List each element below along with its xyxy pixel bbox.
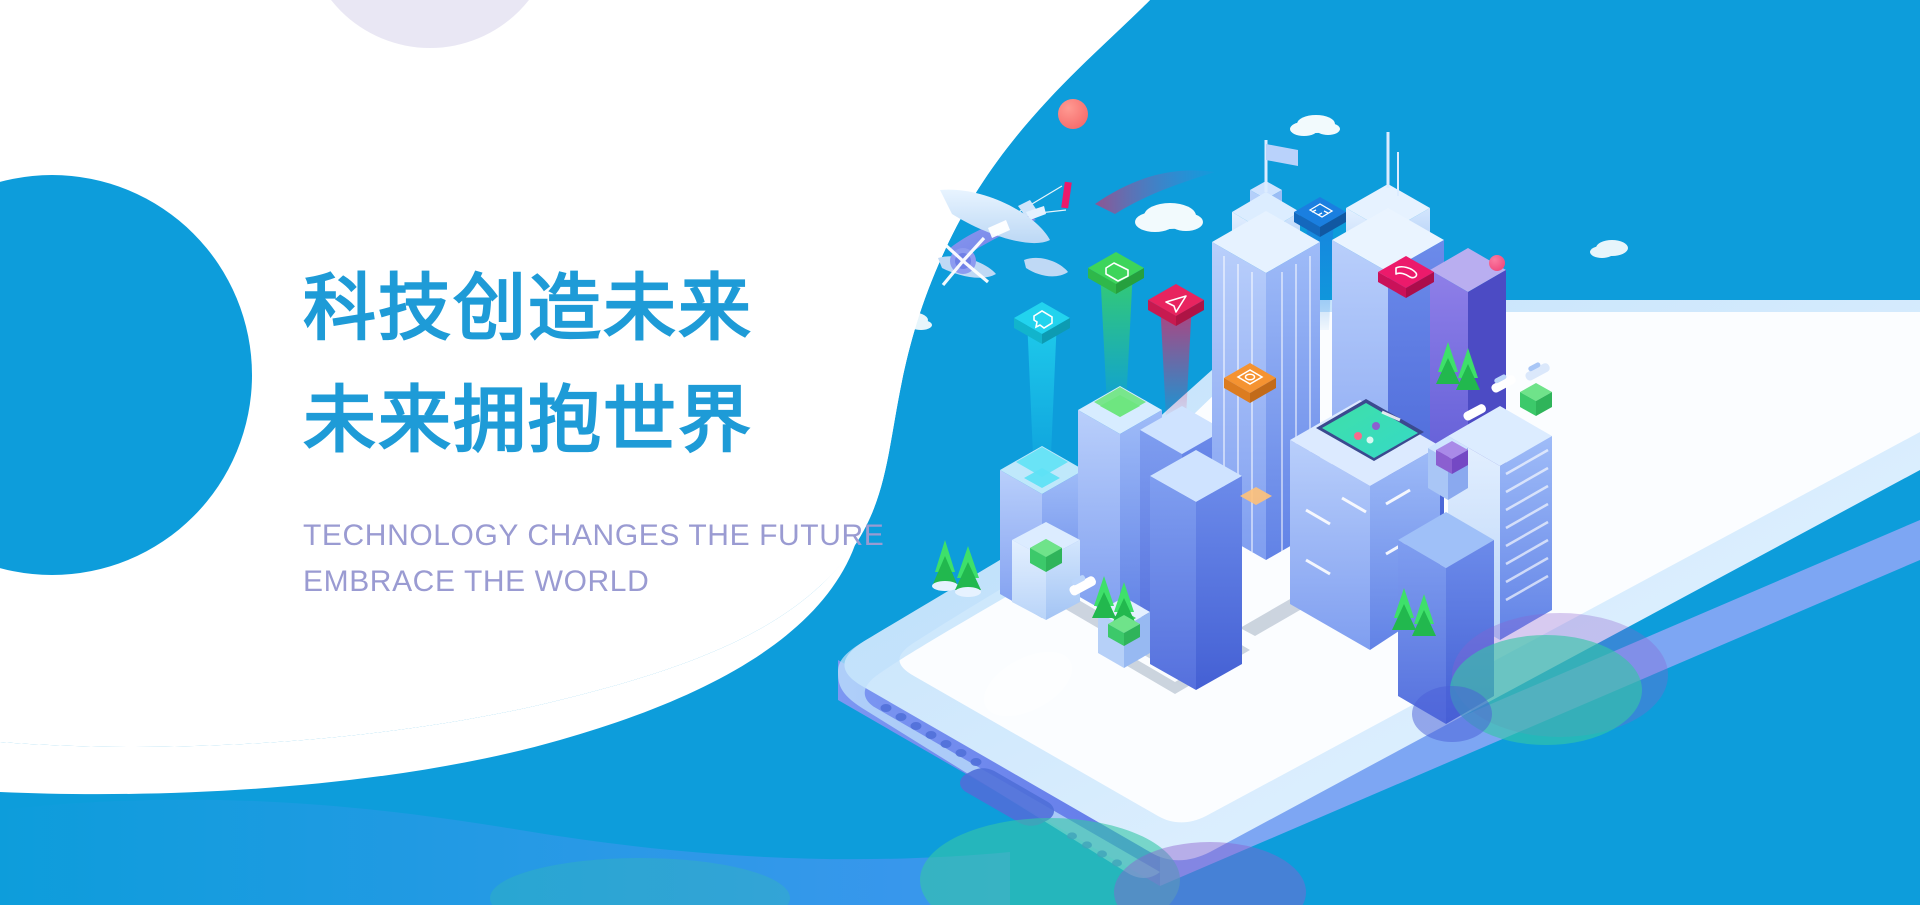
text-block: 科技创造未来 未来拥抱世界 TECHNOLOGY CHANGES THE FUT… <box>303 253 863 605</box>
headline-group: 科技创造未来 未来拥抱世界 <box>303 253 863 477</box>
coral-sphere <box>1058 99 1088 129</box>
pink-dot <box>1489 255 1505 271</box>
subtitle-line-2: EMBRACE THE WORLD <box>303 559 863 605</box>
headline-line-2: 未来拥抱世界 <box>303 365 863 477</box>
background-shapes <box>0 0 1920 905</box>
subtitle-group: TECHNOLOGY CHANGES THE FUTURE EMBRACE TH… <box>303 513 863 605</box>
headline-line-1: 科技创造未来 <box>303 253 863 365</box>
hero-banner: 科技创造未来 未来拥抱世界 TECHNOLOGY CHANGES THE FUT… <box>0 0 1920 905</box>
subtitle-line-1: TECHNOLOGY CHANGES THE FUTURE <box>303 513 863 559</box>
